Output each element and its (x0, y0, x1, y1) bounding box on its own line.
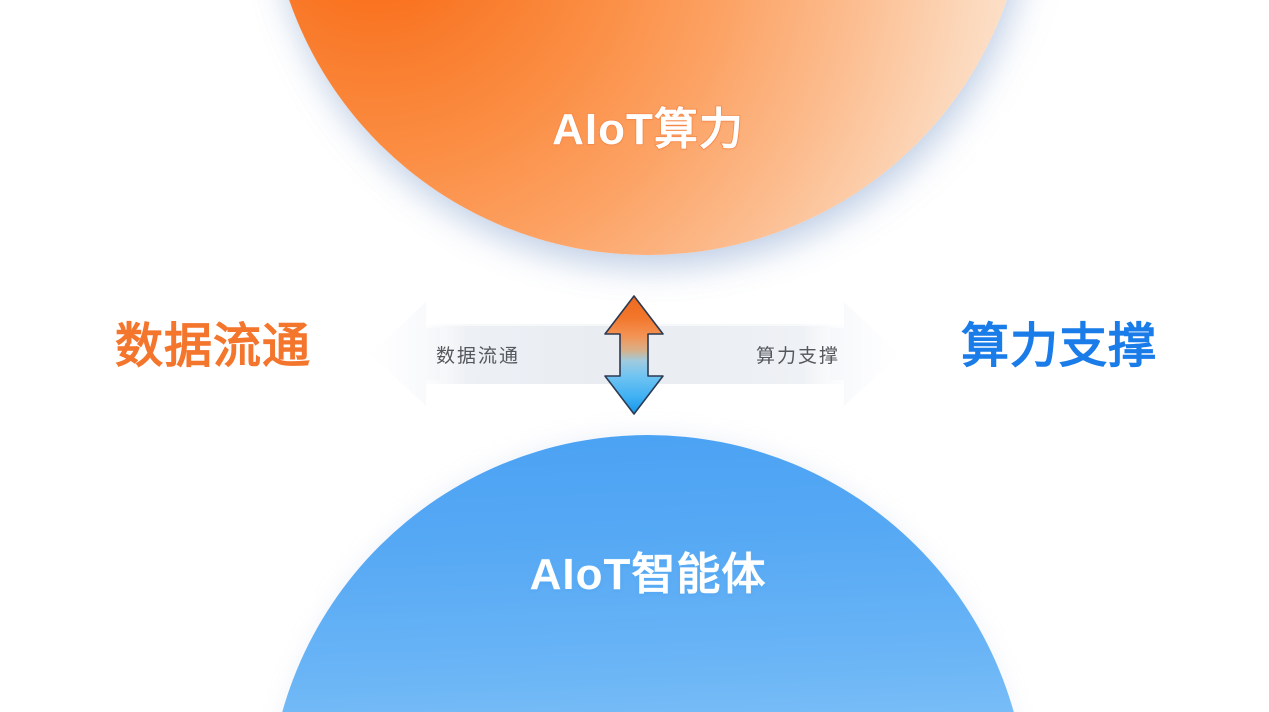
vertical-double-arrow-icon (601, 294, 667, 416)
bar-label-compute-support: 算力支撑 (756, 298, 840, 410)
bottom-sphere-shape (268, 435, 1028, 712)
top-sphere-shape (268, 0, 1028, 255)
heading-data-flow: 数据流通 (115, 318, 311, 376)
bar-label-data-flow: 数据流通 (436, 298, 520, 410)
vertical-arrow-shape (605, 296, 663, 414)
heading-compute-support: 算力支撑 (961, 318, 1157, 376)
diagram-canvas: AIoT算力 AIoT智能体 (0, 0, 1269, 712)
